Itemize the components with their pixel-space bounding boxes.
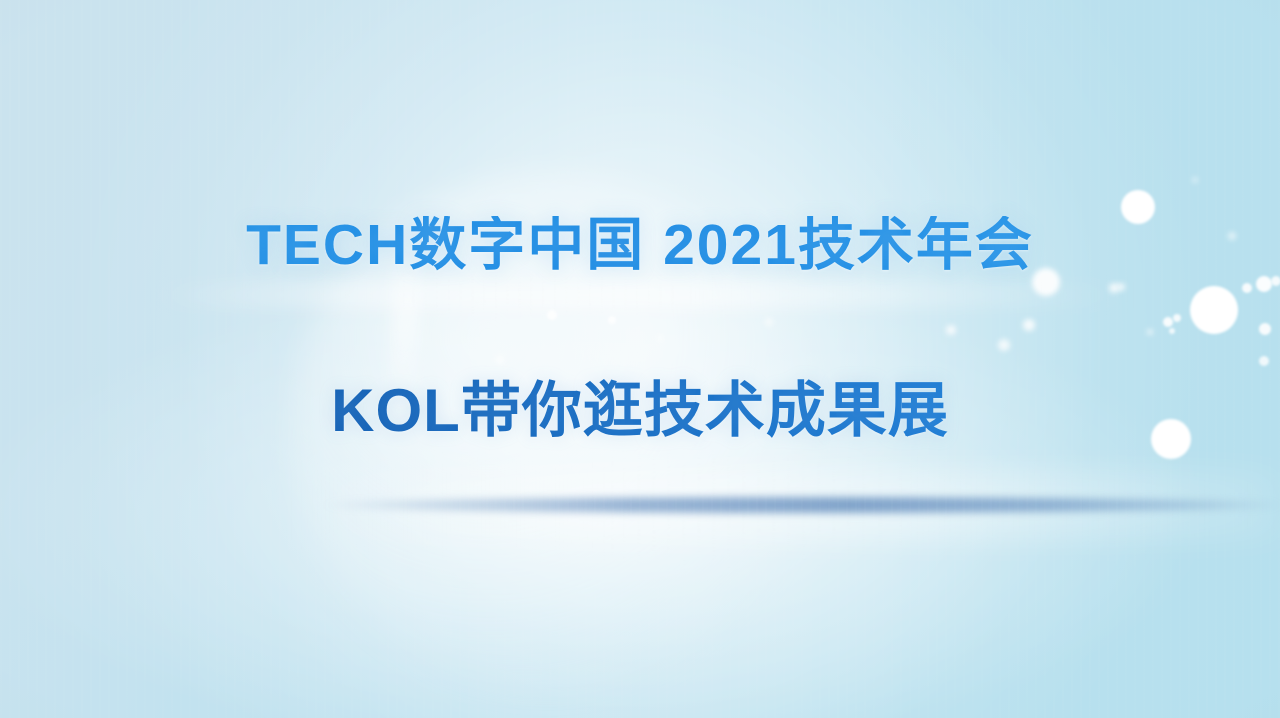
event-title-line-2: KOL带你逛技术成果展 (0, 379, 1280, 442)
event-title-line-1: TECH数字中国 2021技术年会 (0, 216, 1280, 276)
title-block: TECH数字中国 2021技术年会 KOL带你逛技术成果展 (0, 0, 1280, 718)
title-card: TECH数字中国 2021技术年会 KOL带你逛技术成果展 (0, 0, 1280, 718)
